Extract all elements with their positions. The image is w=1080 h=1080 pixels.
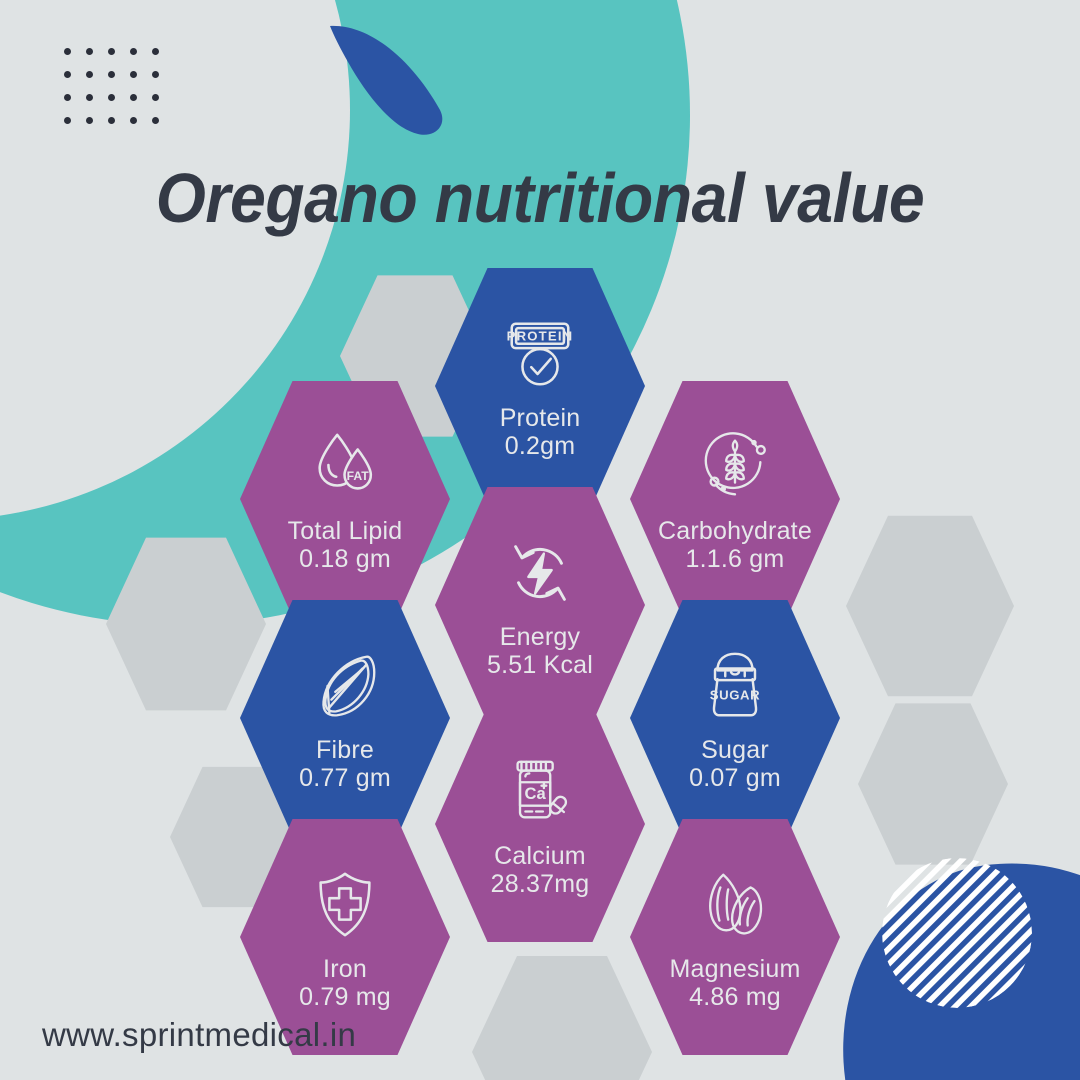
nutrient-label: Carbohydrate [658, 518, 812, 545]
nutrient-value: 5.51 Kcal [487, 651, 593, 680]
nutrient-hex-total-lipid[interactable]: FAT Total Lipid 0.18 gm [240, 381, 450, 617]
almond-seeds-icon [696, 866, 774, 944]
nutrient-label: Energy [500, 624, 580, 651]
nutrient-hex-sugar[interactable]: SUGAR Sugar 0.07 gm [630, 600, 840, 836]
nutrient-label: Iron [323, 956, 367, 983]
nutrient-hexagon-grid: PROTEIN Protein 0.2gm FAT Total Lipid 0.… [0, 0, 1080, 1080]
energy-bolt-icon [501, 534, 579, 612]
nutrient-label: Fibre [316, 737, 374, 764]
nutrient-value: 0.18 gm [299, 545, 391, 574]
calcium-bottle-icon: Ca [501, 753, 579, 831]
nutrient-value: 1.1.6 gm [686, 545, 785, 574]
fat-droplets-icon: FAT [306, 428, 384, 506]
nutrient-value: 28.37mg [491, 870, 590, 899]
nutrient-label: Protein [500, 405, 581, 432]
nutrient-value: 0.07 gm [689, 764, 781, 793]
wheat-grain-icon [696, 428, 774, 506]
nutrient-label: Calcium [494, 843, 586, 870]
nutrient-value: 0.2gm [505, 432, 575, 461]
fibre-leaf-icon [306, 647, 384, 725]
nutrient-label: Magnesium [669, 956, 800, 983]
svg-text:PROTEIN: PROTEIN [507, 329, 574, 344]
sugar-sack-icon: SUGAR [696, 647, 774, 725]
nutrient-hex-protein[interactable]: PROTEIN Protein 0.2gm [435, 268, 645, 504]
nutrient-hex-fibre[interactable]: Fibre 0.77 gm [240, 600, 450, 836]
protein-check-icon: PROTEIN [501, 315, 579, 393]
nutrient-hex-energy[interactable]: Energy 5.51 Kcal [435, 487, 645, 723]
svg-text:FAT: FAT [347, 469, 370, 483]
nutrient-hex-carbohydrate[interactable]: Carbohydrate 1.1.6 gm [630, 381, 840, 617]
nutrient-hex-magnesium[interactable]: Magnesium 4.86 mg [630, 819, 840, 1055]
footer-website-url[interactable]: www.sprintmedical.in [42, 1016, 356, 1054]
nutrient-hex-calcium[interactable]: Ca Calcium 28.37mg [435, 706, 645, 942]
nutrient-value: 0.79 mg [299, 983, 391, 1012]
svg-text:SUGAR: SUGAR [710, 688, 760, 703]
infographic-canvas: Oregano nutritional value PROTEIN Protei… [0, 0, 1080, 1080]
nutrient-label: Sugar [701, 737, 769, 764]
nutrient-label: Total Lipid [288, 518, 403, 545]
nutrient-value: 0.77 gm [299, 764, 391, 793]
shield-cross-icon [306, 866, 384, 944]
nutrient-value: 4.86 mg [689, 983, 781, 1012]
